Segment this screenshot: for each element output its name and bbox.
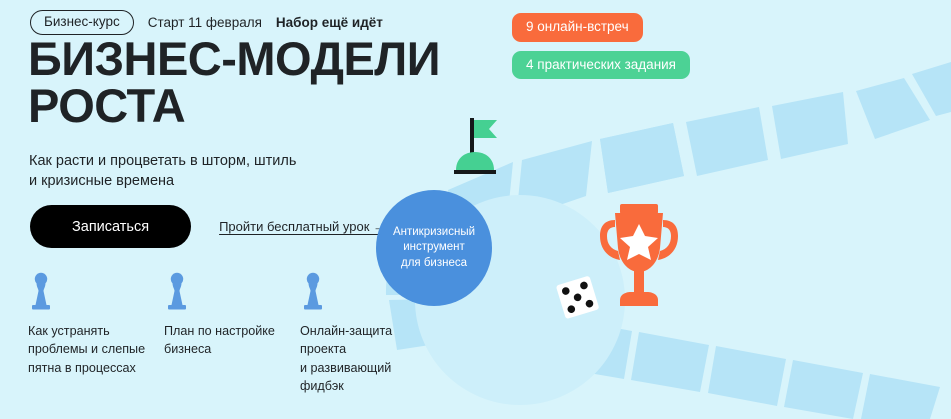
circle-badge-label: Антикризисный инструмент для бизнеса: [393, 225, 475, 272]
trophy-icon: [598, 204, 680, 314]
free-lesson-link[interactable]: Пройти бесплатный урок →: [219, 219, 386, 234]
feature-text: Онлайн-защита проекта и развивающий фидб…: [300, 322, 436, 395]
course-type-pill: Бизнес-курс: [30, 10, 134, 35]
hero-banner: Бизнес-курс Старт 11 февраля Набор ещё и…: [0, 0, 951, 419]
hero-subtitle: Как расти и процветать в шторм, штиль и …: [29, 152, 296, 191]
pawn-icon: [300, 272, 326, 312]
feature-item: План по настройке бизнеса: [164, 272, 300, 395]
dice-icon: [549, 269, 605, 325]
badge-practical-tasks: 4 практических задания: [512, 51, 690, 80]
feature-list: Как устранять проблемы и слепые пятна в …: [28, 272, 436, 395]
badge-online-meetings: 9 онлайн-встреч: [512, 13, 643, 42]
feature-text: Как устранять проблемы и слепые пятна в …: [28, 322, 164, 377]
cta-row: Записаться Пройти бесплатный урок →: [30, 205, 386, 248]
meta-row: Бизнес-курс Старт 11 февраля Набор ещё и…: [30, 10, 383, 35]
page-title: БИЗНЕС-МОДЕЛИ РОСТА: [28, 36, 440, 129]
start-date-label: Старт 11 февраля: [148, 15, 262, 30]
signup-button[interactable]: Записаться: [30, 205, 191, 248]
feature-text: План по настройке бизнеса: [164, 322, 300, 359]
feature-item: Онлайн-защита проекта и развивающий фидб…: [300, 272, 436, 395]
pawn-icon: [28, 272, 54, 312]
flag-icon: [452, 118, 498, 176]
feature-item: Как устранять проблемы и слепые пятна в …: [28, 272, 164, 395]
pawn-icon: [164, 272, 190, 312]
badge-list: 9 онлайн-встреч 4 практических задания: [512, 13, 690, 79]
enrollment-status-label: Набор ещё идёт: [276, 15, 383, 30]
